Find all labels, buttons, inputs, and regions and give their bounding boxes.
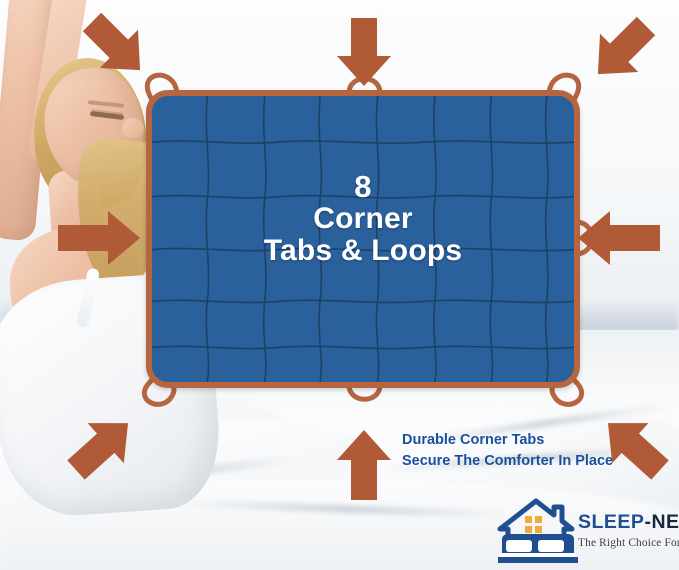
- arrow-right: [578, 211, 660, 265]
- arrows-layer: [0, 0, 679, 570]
- arrows-group: [58, 3, 678, 500]
- house-with-bed-icon: [492, 495, 584, 565]
- product-image-canvas: 8 Corner Tabs & Loops: [0, 0, 679, 570]
- arrow-top-left: [73, 3, 159, 89]
- caption-line-1: Durable Corner Tabs: [402, 430, 613, 451]
- brand-name: SLEEP-NEST: [578, 513, 678, 533]
- arrow-bottom-left: [58, 403, 146, 490]
- brand-name-part2: NEST: [651, 511, 679, 533]
- brand-wordmark: SLEEP-NEST The Right Choice For You: [578, 513, 678, 549]
- brand-name-part1: SLEEP: [578, 511, 644, 533]
- brand-tagline: The Right Choice For You: [578, 537, 678, 549]
- arrow-top-right: [579, 7, 665, 93]
- arrow-bottom-center: [337, 430, 391, 500]
- caption-line-2: Secure The Comforter In Place: [402, 451, 613, 472]
- arrow-top-center: [337, 18, 391, 86]
- feature-caption: Durable Corner Tabs Secure The Comforter…: [402, 430, 613, 472]
- arrow-left: [58, 211, 140, 265]
- brand-logo: SLEEP-NEST The Right Choice For You: [492, 495, 678, 567]
